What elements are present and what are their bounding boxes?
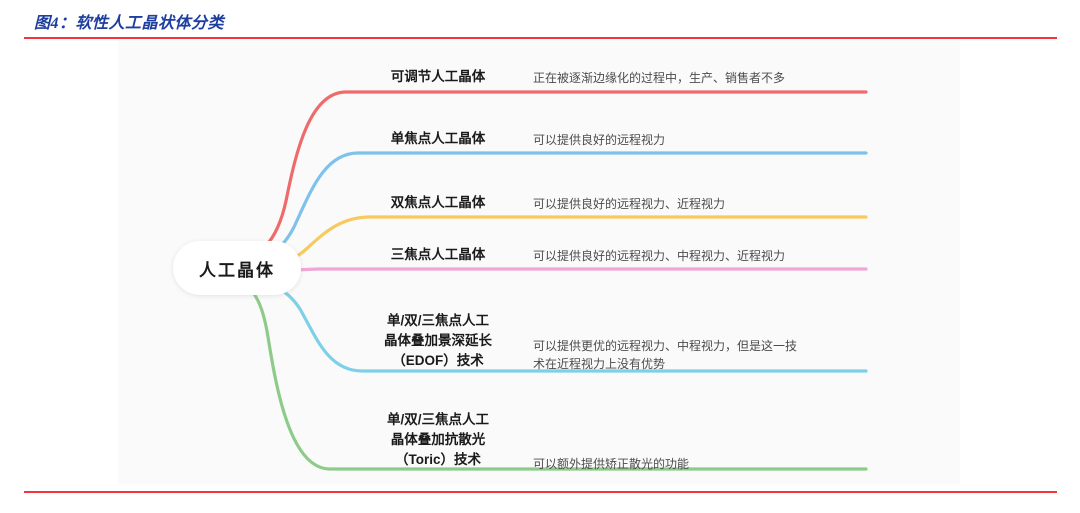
branch-title-trifocal-iol[interactable]: 三焦点人工晶体 bbox=[343, 245, 533, 265]
connector-line-accommodating-iol bbox=[238, 92, 866, 259]
branch-title-bifocal-iol[interactable]: 双焦点人工晶体 bbox=[343, 193, 533, 213]
branch-title-toric-iol[interactable]: 单/双/三焦点人工 晶体叠加抗散光 （Toric）技术 bbox=[343, 410, 533, 470]
mindmap-root-label: 人工晶体 bbox=[199, 256, 275, 281]
mindmap-canvas: 人工晶体 可调节人工晶体 正在被逐渐边缘化的过程中，生产、销售者不多 单焦点人工… bbox=[118, 41, 960, 484]
branch-description-bifocal-iol: 可以提供良好的远程视力、近程视力 bbox=[533, 195, 863, 213]
branch-title-edof-iol[interactable]: 单/双/三焦点人工 晶体叠加景深延长 （EDOF）技术 bbox=[343, 311, 533, 371]
branch-description-monofocal-iol: 可以提供良好的远程视力 bbox=[533, 131, 863, 149]
branch-title-monofocal-iol[interactable]: 单焦点人工晶体 bbox=[343, 129, 533, 149]
branch-description-edof-iol: 可以提供更优的远程视力、中程视力，但是这一技 术在近程视力上没有优势 bbox=[533, 337, 871, 373]
mindmap-root-node[interactable]: 人工晶体 bbox=[173, 241, 301, 295]
title-divider-rule bbox=[24, 37, 1057, 39]
connector-line-trifocal-iol bbox=[238, 269, 866, 271]
branch-description-trifocal-iol: 可以提供良好的远程视力、中程视力、近程视力 bbox=[533, 247, 873, 265]
figure-title: 图4：软性人工晶状体分类 bbox=[34, 9, 224, 33]
connector-line-toric-iol bbox=[238, 281, 866, 469]
branch-description-accommodating-iol: 正在被逐渐边缘化的过程中，生产、销售者不多 bbox=[533, 69, 863, 87]
footer-divider-rule bbox=[24, 491, 1057, 493]
branch-title-accommodating-iol[interactable]: 可调节人工晶体 bbox=[343, 67, 533, 87]
branch-description-toric-iol: 可以额外提供矫正散光的功能 bbox=[533, 455, 863, 473]
